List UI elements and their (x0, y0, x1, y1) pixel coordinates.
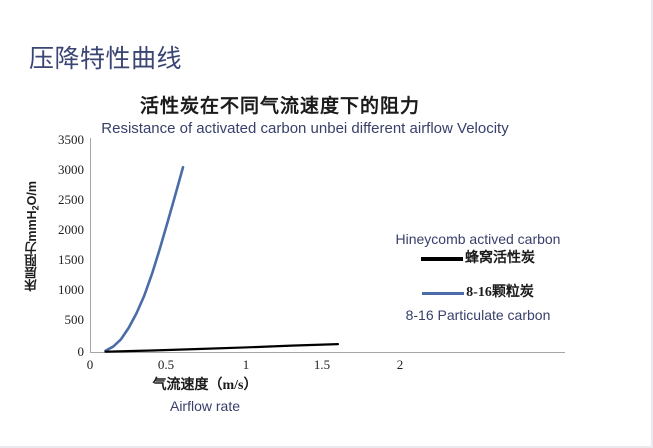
x-tick-label: 0.5 (146, 357, 186, 372)
slide-canvas: 压降特性曲线 活性炭在不同气流速度下的阻力 Resistance of acti… (0, 0, 653, 448)
x-tick-label: 0 (70, 357, 110, 372)
chart-legend: Hineycomb actived carbon 蜂窝活性炭 8-16颗粒炭 8… (368, 230, 588, 324)
x-tick-label: 1.5 (302, 357, 342, 372)
legend-caption-particulate-english: 8-16 Particulate carbon (368, 306, 588, 324)
legend-caption-honeycomb-english: Hineycomb actived carbon (368, 230, 588, 248)
series-line-honeycomb-carbon (106, 344, 339, 352)
legend-item-particulate[interactable]: 8-16颗粒炭 (368, 282, 588, 304)
x-tick-label: 2 (380, 357, 420, 372)
x-tick-label: 1 (226, 357, 266, 372)
legend-item-honeycomb[interactable]: 蜂窝活性炭 (368, 248, 588, 270)
legend-label-particulate-chinese: 8-16颗粒炭 (466, 283, 534, 303)
x-axis-title-english: Airflow rate (90, 397, 320, 415)
legend-swatch-black-icon (421, 257, 463, 261)
slide-title: 压降特性曲线 (29, 44, 182, 74)
chart-container: 活性炭在不同气流速度下的阻力 Resistance of activated c… (0, 85, 653, 425)
x-axis-title-chinese: 气流速度（m/s） (90, 377, 320, 395)
legend-spacer (368, 270, 588, 282)
series-line-particulate-carbon (106, 167, 184, 351)
legend-swatch-blue-icon (422, 292, 464, 295)
legend-label-honeycomb-chinese: 蜂窝活性炭 (465, 249, 535, 269)
